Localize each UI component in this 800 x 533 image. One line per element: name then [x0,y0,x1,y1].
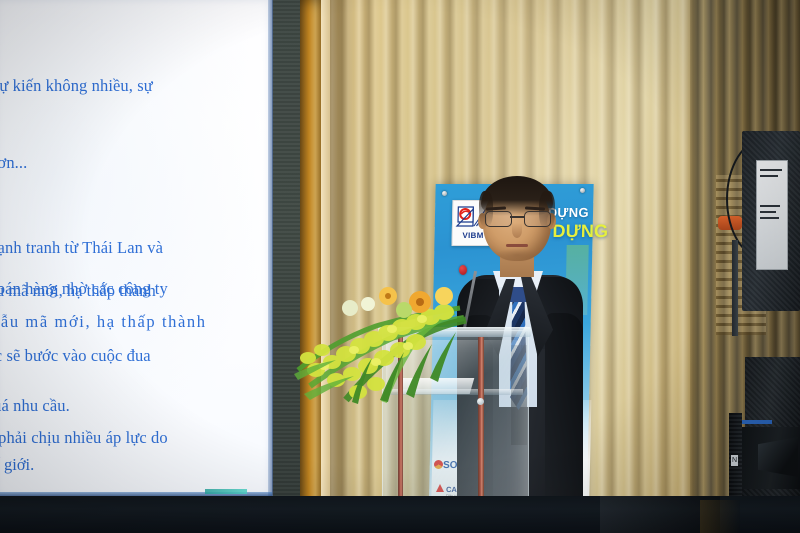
nose [512,223,522,238]
slide-line: ạo mẫu mã mới, hạ thấp thành [0,281,156,301]
rack-blue-indicator [742,420,772,424]
microphone-windscreen [459,265,467,275]
floor-monitor-speaker-top [745,357,800,427]
rack-badge: N [731,455,738,466]
banner-grommet-left [442,191,447,196]
floral-arrangement [288,282,468,404]
slide-text-overflow: ạo mẫu mã mới, hạ thấp thành ên thế giới… [0,0,272,497]
eyeglass-bridge [510,216,524,218]
eyeglass-lens-right [524,211,551,227]
stage-skirt-gap [700,500,740,533]
mouth [506,244,528,247]
eyeglass-lens-left [485,211,512,227]
lectern-knob [477,398,484,405]
slide-line: ên thế giới. [0,455,34,475]
speaker-stand [732,240,738,336]
chin-shadow [495,248,539,262]
loudspeaker-label [756,160,788,270]
wood-column-edge [321,0,330,533]
wood-column-trim [300,0,322,533]
flower-graphics [288,282,468,404]
conference-photo: n tới dự kiến không nhiều, sự h mẽ hơn..… [0,0,800,533]
